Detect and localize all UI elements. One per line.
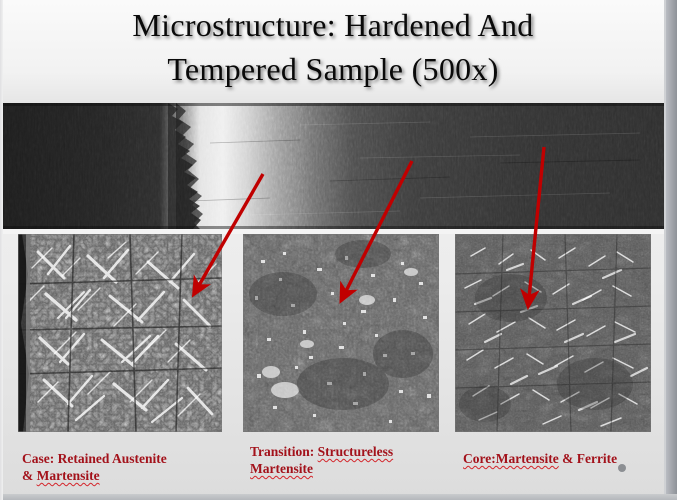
micrograph-panel-transition: [243, 234, 439, 432]
micrograph-panel-core: [455, 234, 651, 432]
caption-core-suffix: & Ferrite: [559, 451, 617, 466]
page-title-line-1: Microstructure: Hardened And: [0, 3, 666, 47]
caption-case: Case: Retained Austenite & Martensite: [22, 450, 237, 484]
slide-right-border: [666, 0, 677, 500]
micrograph-panel-case: [18, 234, 222, 432]
caption-case-misspelled-word: Martensite: [37, 468, 100, 483]
cross-section-micrograph: [0, 103, 666, 229]
caption-core-misspelled-word: Core:Martensite: [463, 451, 559, 466]
caption-transition-misspelled-word-2: Martensite: [250, 461, 313, 476]
caption-transition-misspelled-word-1: Structureless: [318, 444, 394, 459]
page-title: Microstructure: Hardened And Tempered Sa…: [0, 3, 666, 91]
page-title-line-2: Tempered Sample (500x): [0, 47, 666, 91]
caption-case-line-1: Case: Retained Austenite: [22, 451, 167, 466]
slide-bottom-border: [0, 494, 677, 500]
slide-left-border: [0, 0, 3, 500]
slide-canvas: Microstructure: Hardened And Tempered Sa…: [0, 0, 677, 500]
caption-transition: Transition: Structureless Martensite: [250, 443, 445, 477]
caption-transition-prefix: Transition:: [250, 444, 318, 459]
caption-case-line-2-prefix: &: [22, 468, 37, 483]
caption-core: Core:Martensite & Ferrite: [463, 450, 668, 467]
title-zone: Microstructure: Hardened And Tempered Sa…: [0, 0, 666, 103]
slide-bullet-dot: [618, 464, 626, 472]
